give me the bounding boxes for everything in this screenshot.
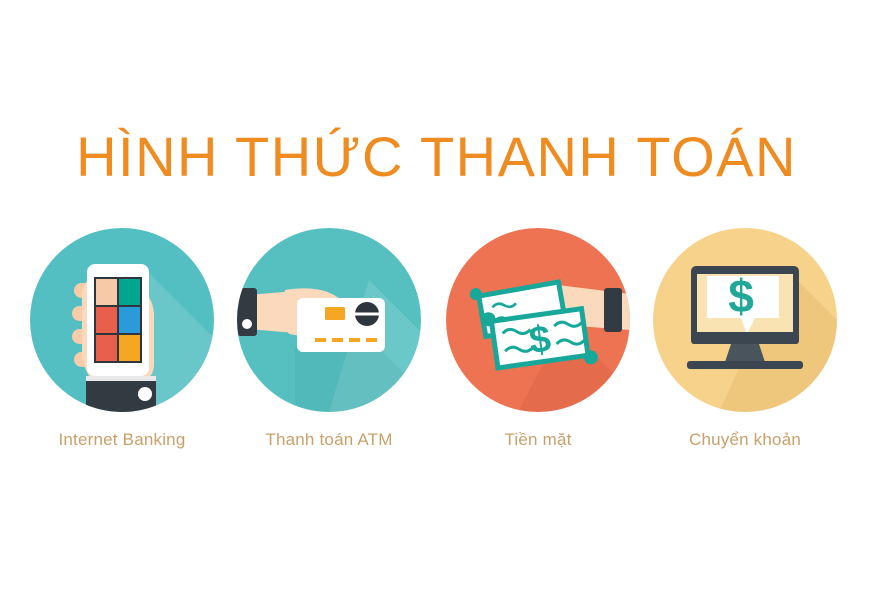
page-title: HÌNH THỨC THANH TOÁN — [0, 126, 873, 188]
payment-method-item-cash[interactable]: $ Tiền mặt — [438, 228, 638, 468]
icon-circle-internet-banking — [30, 228, 214, 412]
payment-method-item-internet-banking[interactable]: Internet Banking — [22, 228, 222, 468]
payment-method-label: Thanh toán ATM — [229, 430, 429, 450]
monitor-dollar-speech-bubble-icon: $ — [653, 228, 837, 412]
icon-circle-cash: $ — [446, 228, 630, 412]
circle-background: $ — [653, 228, 837, 412]
circle-background: $ — [446, 228, 630, 412]
hand-holding-cash-banknotes-icon: $ — [446, 228, 630, 412]
hand-holding-smartphone-icon — [30, 228, 214, 412]
icon-circle-bank-transfer: $ — [653, 228, 837, 412]
icon-circle-atm — [237, 228, 421, 412]
payment-method-label: Internet Banking — [22, 430, 222, 450]
payment-method-label: Tiền mặt — [438, 430, 638, 450]
payment-method-label: Chuyển khoản — [645, 430, 845, 450]
payment-method-list: Internet Banking — [0, 228, 873, 468]
payment-method-item-atm[interactable]: Thanh toán ATM — [229, 228, 429, 468]
circle-background — [30, 228, 214, 412]
circle-background — [237, 228, 421, 412]
payment-methods-infographic: HÌNH THỨC THANH TOÁN — [0, 0, 873, 603]
payment-method-item-bank-transfer[interactable]: $ Chuyển khoản — [645, 228, 845, 468]
hand-holding-credit-card-icon — [237, 228, 421, 412]
svg-text:$: $ — [728, 270, 754, 322]
